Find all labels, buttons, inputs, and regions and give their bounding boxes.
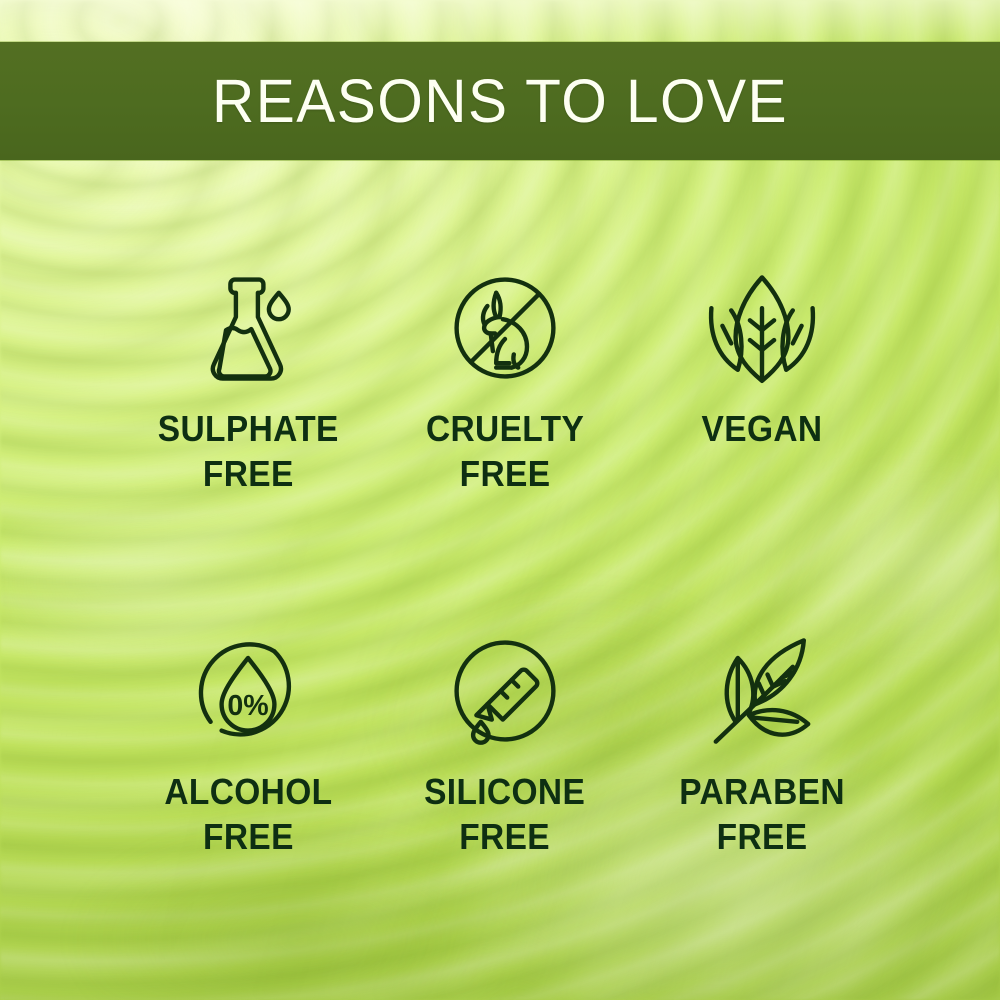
dropper-pipette-icon [439, 625, 571, 757]
three-leaves-icon [696, 262, 828, 394]
page-title: REASONS TO LOVE [212, 71, 788, 132]
features-grid: SULPHATE FREE [120, 262, 890, 859]
feature-label-line2: FREE [164, 814, 332, 859]
feature-label-line1: CRUELTY [426, 408, 584, 449]
zero-percent-droplet-icon: 0% [182, 625, 314, 757]
feature-item-sulphate-free: SULPHATE FREE [120, 262, 377, 497]
feature-label-line1: VEGAN [701, 408, 822, 449]
feature-label-line2: FREE [424, 814, 585, 859]
feature-item-vegan: VEGAN [633, 262, 890, 497]
feature-label: SILICONE FREE [424, 769, 585, 860]
feature-label: CRUELTY FREE [426, 406, 584, 497]
svg-text:0%: 0% [228, 690, 269, 722]
feature-label: ALCOHOL FREE [164, 769, 332, 860]
feature-label: VEGAN [701, 406, 822, 451]
header-banner: REASONS TO LOVE [0, 42, 1000, 160]
feature-label-line2: FREE [426, 451, 584, 496]
feature-label-line1: PARABEN [679, 771, 845, 812]
feature-label-line1: ALCOHOL [164, 771, 332, 812]
no-animal-testing-icon [439, 262, 571, 394]
leaf-branch-icon [696, 625, 828, 757]
feature-label-line2: FREE [679, 814, 845, 859]
feature-label: PARABEN FREE [679, 769, 845, 860]
feature-item-silicone-free: SILICONE FREE [377, 625, 634, 860]
feature-item-cruelty-free: CRUELTY FREE [377, 262, 634, 497]
feature-item-paraben-free: PARABEN FREE [633, 625, 890, 860]
feature-label-line2: FREE [158, 451, 339, 496]
feature-item-alcohol-free: 0% ALCOHOL FREE [120, 625, 377, 860]
feature-label: SULPHATE FREE [158, 406, 339, 497]
flask-droplet-icon [182, 262, 314, 394]
reasons-to-love-poster: REASONS TO LOVE SULPHATE FREE [0, 0, 1000, 1000]
feature-label-line1: SILICONE [424, 771, 585, 812]
feature-label-line1: SULPHATE [158, 408, 339, 449]
